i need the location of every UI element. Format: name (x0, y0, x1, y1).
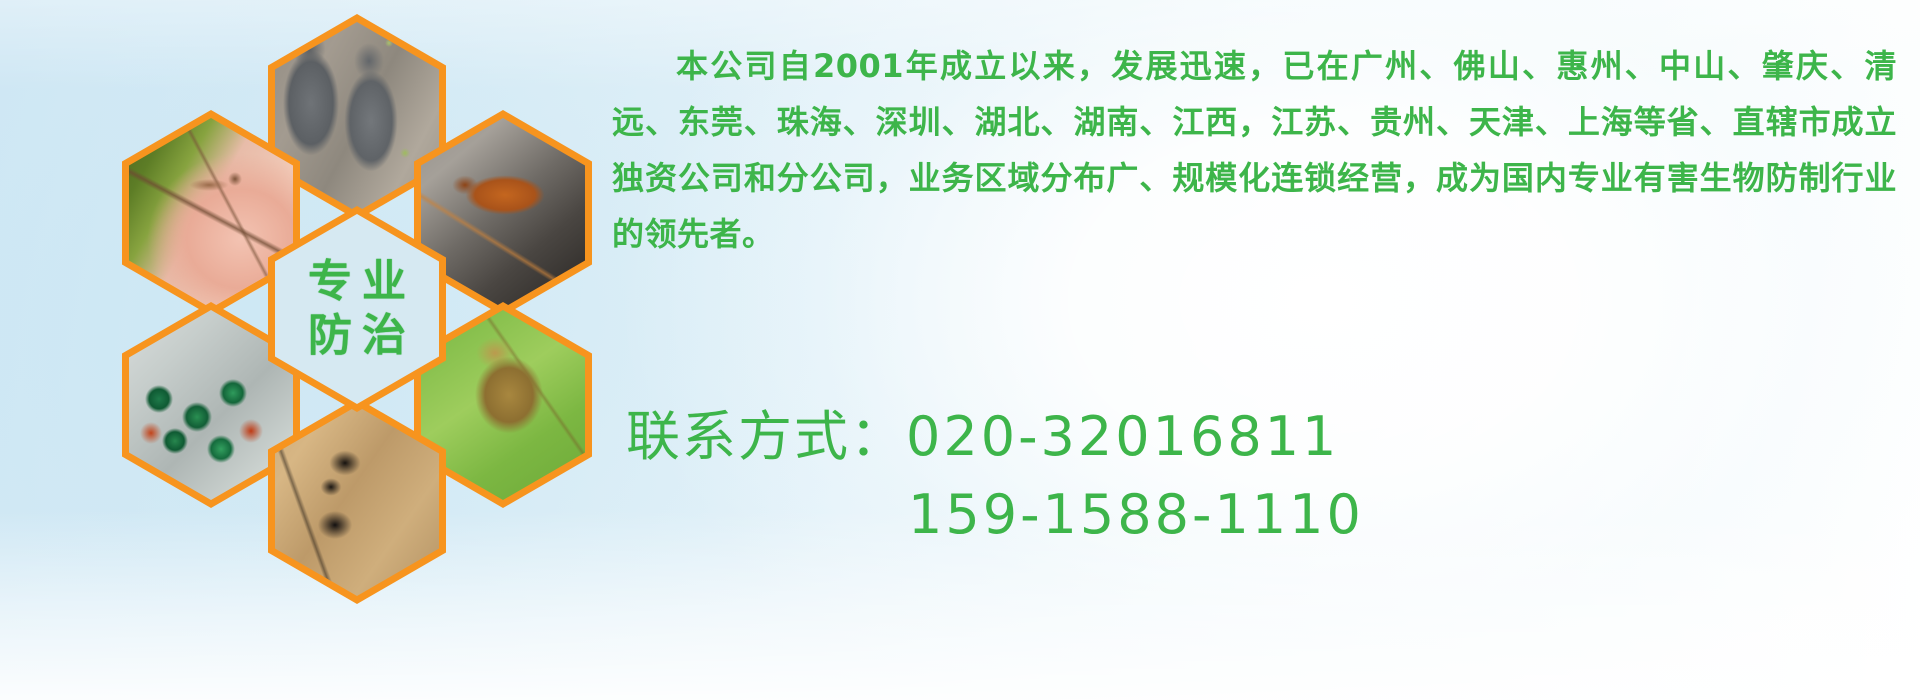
logo-slogan-line1: 专业 (298, 260, 416, 304)
hex-inner-ant (275, 406, 439, 596)
contact-label: 联系方式： (626, 405, 906, 468)
promo-banner: 专业 防治 本公司自2001年成立以来，发展迅速，已在广州、佛山、惠州、中山、肇… (0, 0, 1920, 700)
company-intro-paragraph: 本公司自2001年成立以来，发展迅速，已在广州、佛山、惠州、中山、肇庆、清远、东… (612, 38, 1897, 262)
ant-photo-icon (275, 406, 439, 596)
contact-block: 联系方式：020-32016811 159-1588-1110 (626, 398, 1896, 554)
banner-content: 本公司自2001年成立以来，发展迅速，已在广州、佛山、惠州、中山、肇庆、清远、东… (612, 0, 1902, 700)
phone-primary[interactable]: 020-32016811 (906, 405, 1339, 468)
honeycomb-pest-logo: 专业 防治 (78, 0, 598, 600)
logo-slogan: 专业 防治 (275, 214, 439, 404)
contact-primary-row: 联系方式：020-32016811 (626, 398, 1896, 476)
contact-secondary-row: 159-1588-1110 (626, 476, 1896, 554)
logo-slogan-line2: 防治 (298, 314, 416, 358)
phone-secondary[interactable]: 159-1588-1110 (908, 483, 1364, 546)
hex-inner-label: 专业 防治 (275, 214, 439, 404)
